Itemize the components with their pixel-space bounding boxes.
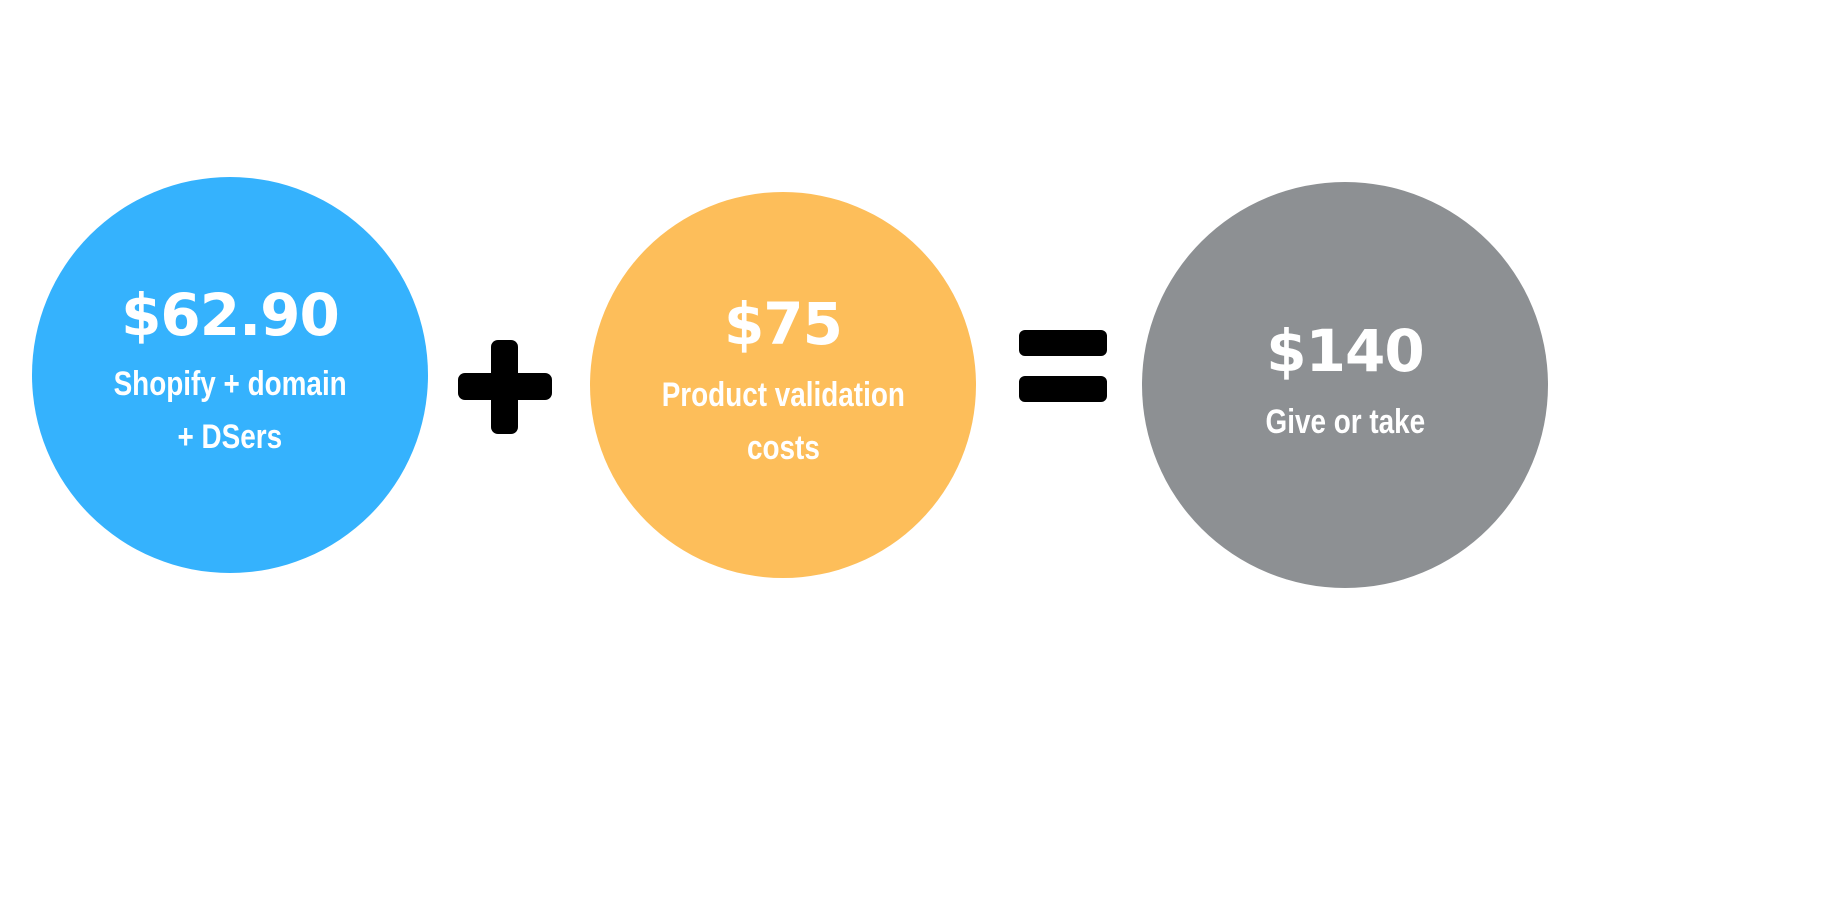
cost-caption-validation-line-2: costs (747, 422, 820, 475)
equation-diagram: $62.90 Shopify + domain + DSers $75 Prod… (0, 0, 1824, 912)
cost-circle-shopify: $62.90 Shopify + domain + DSers (32, 177, 428, 573)
equals-bar-bottom (1019, 376, 1107, 402)
cost-caption-shopify-line-1: Shopify + domain (113, 358, 346, 411)
cost-amount-total: $140 (1266, 322, 1423, 380)
cost-caption-total-line-1: Give or take (1265, 396, 1425, 449)
equals-sign-icon (1019, 330, 1107, 410)
plus-bar-vertical (491, 340, 518, 434)
equals-bar-top (1019, 330, 1107, 356)
cost-circle-validation: $75 Product validation costs (590, 192, 976, 578)
cost-circle-total: $140 Give or take (1142, 182, 1548, 588)
cost-amount-validation: $75 (724, 295, 842, 353)
plus-sign-icon (455, 337, 555, 437)
cost-caption-validation-line-1: Product validation (661, 369, 904, 422)
cost-amount-shopify: $62.90 (121, 286, 339, 344)
cost-caption-shopify-line-2: + DSers (178, 411, 283, 464)
